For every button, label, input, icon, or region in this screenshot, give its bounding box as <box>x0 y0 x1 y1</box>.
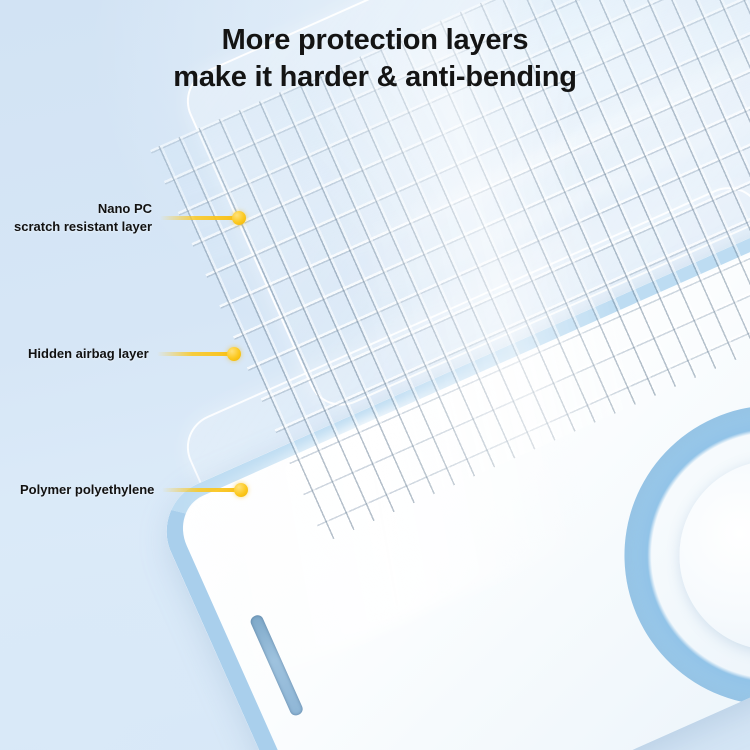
callout-label: Polymer polyethylene <box>20 481 154 499</box>
leader-dot-icon <box>227 347 241 361</box>
callout-polymer-polyethylene: Polymer polyethylene <box>20 481 242 499</box>
leader-line <box>162 488 242 492</box>
callout-label: Nano PC scratch resistant layer <box>14 200 152 237</box>
headline-line-2: make it harder & anti-bending <box>0 59 750 96</box>
callout-label: Hidden airbag layer <box>28 345 149 363</box>
leader-line <box>157 352 235 356</box>
product-feature-infographic: More protection layers make it harder & … <box>0 0 750 750</box>
leader-line <box>160 216 240 220</box>
headline-line-1: More protection layers <box>222 24 529 56</box>
callout-nano-pc: Nano PC scratch resistant layer <box>14 200 240 237</box>
page-title: More protection layers make it harder & … <box>0 22 750 95</box>
callout-hidden-airbag: Hidden airbag layer <box>28 345 235 363</box>
